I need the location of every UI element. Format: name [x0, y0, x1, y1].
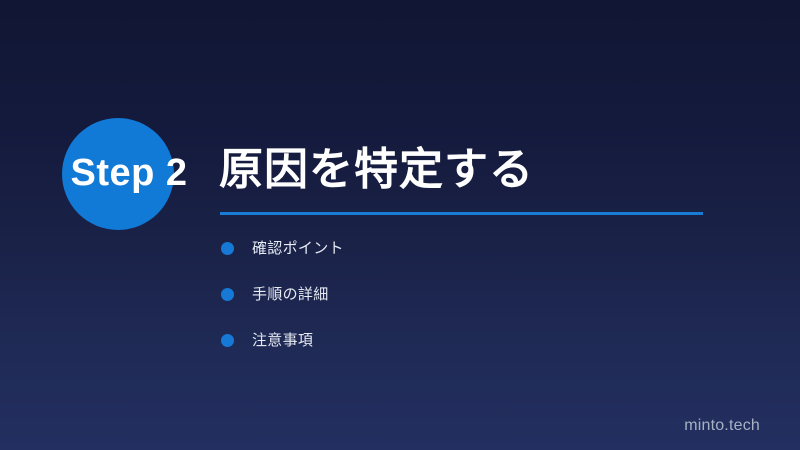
- bullet-dot-icon: [221, 288, 234, 301]
- list-item-label: 確認ポイント: [252, 238, 344, 259]
- list-item: 注意事項: [221, 330, 741, 376]
- list-item: 手順の詳細: [221, 284, 741, 330]
- title-underline-rule: [220, 212, 703, 215]
- bullet-list: 確認ポイント 手順の詳細 注意事項: [221, 238, 741, 376]
- list-item: 確認ポイント: [221, 238, 741, 284]
- step-number-label: Step 2: [49, 151, 209, 195]
- bullet-dot-icon: [221, 242, 234, 255]
- list-item-label: 手順の詳細: [252, 284, 329, 305]
- footer-brand-label: minto.tech: [684, 416, 760, 436]
- bullet-dot-icon: [221, 334, 234, 347]
- list-item-label: 注意事項: [252, 330, 313, 351]
- presentation-slide: Step 2 原因を特定する 確認ポイント 手順の詳細 注意事項 minto.t…: [0, 0, 800, 450]
- slide-title: 原因を特定する: [219, 143, 534, 197]
